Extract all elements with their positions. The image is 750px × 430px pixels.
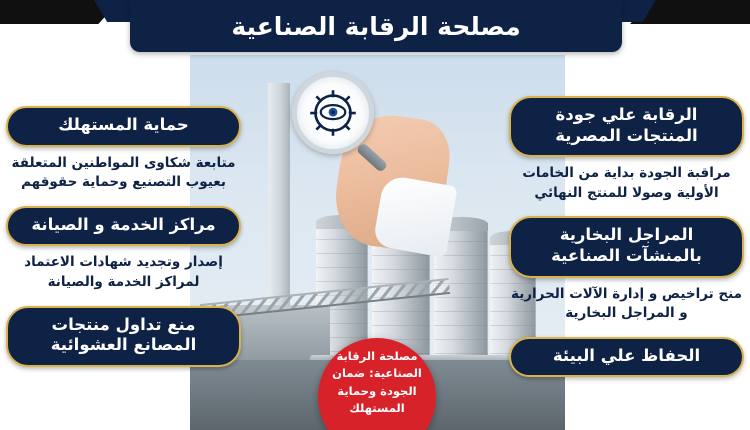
right-info-column: الرقابة علي جودة المنتجات المصرية مراقبة… bbox=[509, 96, 744, 390]
info-item-boilers: المراجل البخارية بالمنشآت الصناعية منح ت… bbox=[509, 216, 744, 323]
left-info-column: حماية المستهلك متابعة شكاوى المواطنين ال… bbox=[6, 106, 241, 380]
body-text-boilers: منح تراخيص و إدارة الآلات الحرارية و الم… bbox=[509, 285, 744, 324]
body-text-consumer-protection: متابعة شكاوى المواطنين المتعلقة بعيوب ال… bbox=[6, 154, 241, 193]
info-item-service-centers: مراكز الخدمة و الصيانة إصدار وتجديد شهاد… bbox=[6, 206, 241, 293]
page-title: مصلحة الرقابة الصناعية bbox=[231, 12, 520, 41]
gear-eye-logo-icon bbox=[305, 85, 361, 141]
info-item-environment: الحفاظ علي البيئة bbox=[509, 337, 744, 378]
header-ribbon: مصلحة الرقابة الصناعية bbox=[130, 0, 622, 52]
body-text-service-centers: إصدار وتجديد شهادات الاعتماد لمراكز الخد… bbox=[6, 253, 241, 292]
info-item-consumer-protection: حماية المستهلك متابعة شكاوى المواطنين ال… bbox=[6, 106, 241, 193]
magnifier-icon bbox=[292, 72, 374, 154]
infographic-page: مصلحة الرقابة الصناعية الرقابة علي جودة … bbox=[0, 0, 750, 430]
pill-title-quality[interactable]: الرقابة علي جودة المنتجات المصرية bbox=[509, 96, 744, 157]
pill-title-illegal-factories[interactable]: منع تداول منتجات المصانع العشوائية bbox=[6, 306, 241, 367]
info-item-quality: الرقابة علي جودة المنتجات المصرية مراقبة… bbox=[509, 96, 744, 203]
center-badge: مصلحة الرقابة الصناعية: ضمان الجودة وحما… bbox=[318, 338, 436, 430]
center-badge-text: مصلحة الرقابة الصناعية: ضمان الجودة وحما… bbox=[330, 348, 424, 417]
pill-title-consumer-protection[interactable]: حماية المستهلك bbox=[6, 106, 241, 147]
pill-title-service-centers[interactable]: مراكز الخدمة و الصيانة bbox=[6, 206, 241, 247]
body-text-quality: مراقبة الجودة بداية من الخامات الأولية و… bbox=[509, 164, 744, 203]
pill-title-boilers[interactable]: المراجل البخارية بالمنشآت الصناعية bbox=[509, 216, 744, 277]
info-item-illegal-factories: منع تداول منتجات المصانع العشوائية bbox=[6, 306, 241, 367]
hand-with-magnifier bbox=[282, 60, 452, 250]
sleeve-illustration bbox=[372, 174, 457, 258]
pill-title-environment[interactable]: الحفاظ علي البيئة bbox=[509, 337, 744, 378]
